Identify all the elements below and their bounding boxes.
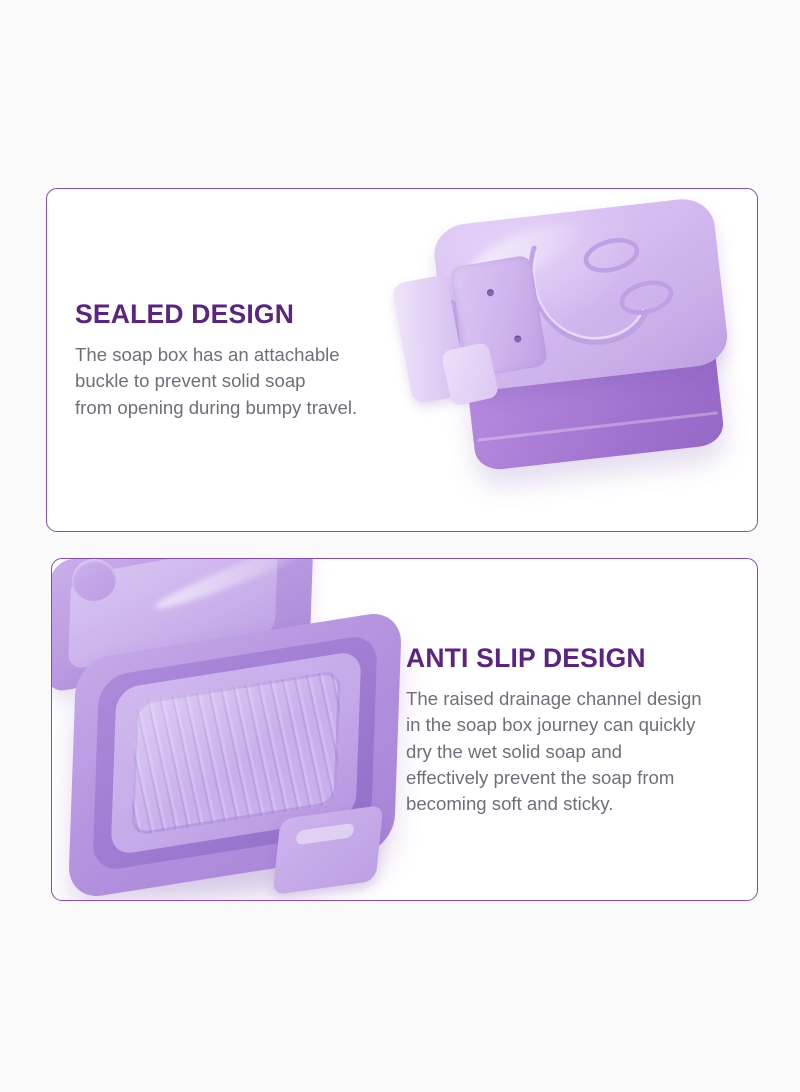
antislip-design-title: ANTI SLIP DESIGN <box>406 645 736 673</box>
closed-soap-box-illustration <box>399 188 758 532</box>
body-line: buckle to prevent solid soap <box>75 368 405 394</box>
antislip-design-body: The raised drainage channel design in th… <box>406 686 736 818</box>
sealed-design-body: The soap box has an attachable buckle to… <box>75 342 405 421</box>
feature-card-sealed: SEALED DESIGN The soap box has an attach… <box>46 188 758 532</box>
body-line: becoming soft and sticky. <box>406 791 736 817</box>
tray-front-clasp <box>273 805 384 895</box>
body-line: dry the wet solid soap and <box>406 739 736 765</box>
infographic-page: SEALED DESIGN The soap box has an attach… <box>0 0 800 1092</box>
open-soap-box-illustration <box>51 558 448 901</box>
body-line: in the soap box journey can quickly <box>406 712 736 738</box>
feature-card-antislip: ANTI SLIP DESIGN The raised drainage cha… <box>51 558 758 901</box>
body-line: effectively prevent the soap from <box>406 765 736 791</box>
body-line: The soap box has an attachable <box>75 342 405 368</box>
antislip-design-text-block: ANTI SLIP DESIGN The raised drainage cha… <box>406 645 736 818</box>
body-line: from opening during bumpy travel. <box>75 395 405 421</box>
sealed-design-title: SEALED DESIGN <box>75 301 405 329</box>
sealed-design-text-block: SEALED DESIGN The soap box has an attach… <box>75 301 405 421</box>
body-line: The raised drainage channel design <box>406 686 736 712</box>
